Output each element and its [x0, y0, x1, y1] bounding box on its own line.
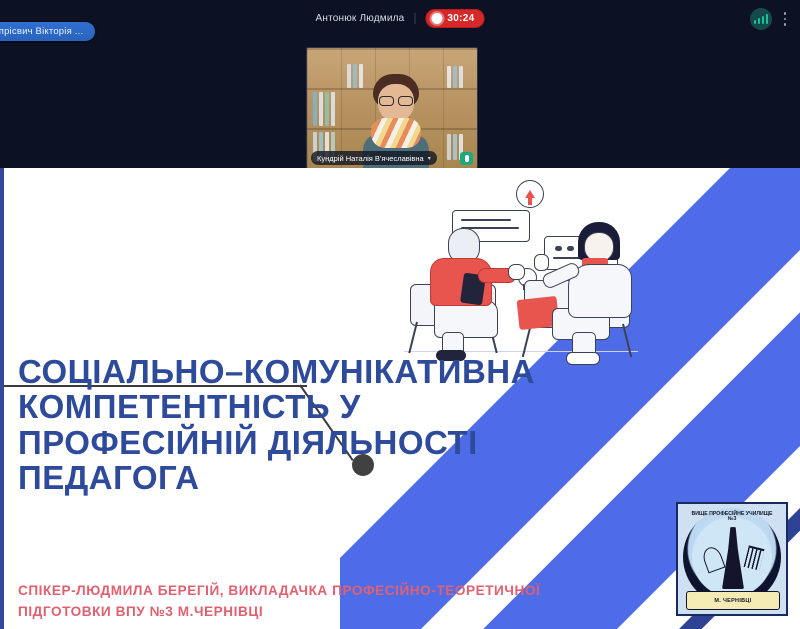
signal-strength-icon[interactable] [750, 8, 772, 30]
microphone-icon [460, 152, 473, 165]
video-conference-window: Антонюк Людмила 30:24 мпрісвич Вікторія … [0, 0, 800, 629]
tile-name-label[interactable]: Кундрій Наталія В'ячеславівна ▾ [311, 151, 437, 165]
conversation-illustration [396, 180, 646, 370]
tile-name-text: Кундрій Наталія В'ячеславівна [317, 154, 424, 163]
participant-video-tile[interactable]: Кундрій Наталія В'ячеславівна ▾ [306, 47, 478, 169]
presentation-slide[interactable]: СОЦІАЛЬНО–КОМУНІКАТИВНА КОМПЕТЕНТНІСТЬ У… [0, 168, 800, 629]
kebab-menu-icon[interactable] [778, 8, 792, 30]
page-title: СОЦІАЛЬНО–КОМУНІКАТИВНА КОМПЕТЕНТНІСТЬ У… [18, 354, 578, 495]
chevron-down-icon: ▾ [428, 155, 431, 162]
emblem-arc-text: ВИЩЕ ПРОФЕСІЙНЕ УЧИЛИЩЕ №3 [687, 512, 777, 556]
topbar-right-controls [750, 8, 792, 30]
record-dot-icon [431, 13, 442, 24]
recording-badge[interactable]: 30:24 [425, 9, 484, 28]
meeting-status-group: Антонюк Людмила 30:24 [315, 9, 484, 28]
conference-topbar: Антонюк Людмила 30:24 мпрісвич Вікторія … [0, 0, 800, 168]
participant-name-chip[interactable]: мпрісвич Вікторія ... [0, 22, 95, 41]
seated-person-icon [426, 228, 510, 360]
emblem-banner: М. ЧЕРНІВЦІ [686, 591, 780, 610]
recording-timer: 30:24 [447, 13, 474, 24]
host-name-label: Антонюк Людмила [315, 13, 415, 24]
school-emblem: ВИЩЕ ПРОФЕСІЙНЕ УЧИЛИЩЕ №3 М. ЧЕРНІВЦІ [676, 502, 788, 616]
speaker-subtitle: СПІКЕР-ЛЮДМИЛА БЕРЕГІЙ, ВИКЛАДАЧКА ПРОФЕ… [18, 580, 563, 622]
chair-leg [408, 322, 417, 353]
seated-person-icon [546, 222, 638, 362]
arrow-up-icon [516, 180, 544, 208]
emblem-banner-text: М. ЧЕРНІВЦІ [714, 598, 751, 604]
left-accent-rule [0, 168, 4, 629]
